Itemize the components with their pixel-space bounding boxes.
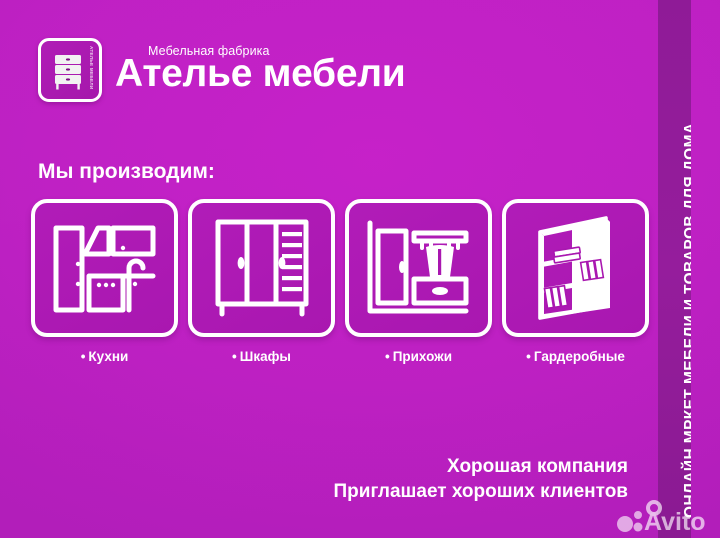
bullet-icon: • (81, 349, 86, 364)
product-card-wardrobe: •Шкафы (188, 199, 335, 364)
slogan-line-1: Хорошая компания (334, 455, 628, 480)
product-cards-row: •Кухни (31, 199, 643, 364)
wardrobe-icon (212, 216, 312, 320)
slogan: Хорошая компания Приглашает хороших клие… (334, 455, 628, 504)
product-card-kitchen-box (31, 199, 178, 337)
product-label-text: Прихожи (393, 349, 452, 364)
product-label-text: Шкафы (240, 349, 291, 364)
product-card-dressing-room-box (502, 199, 649, 337)
hallway-icon (366, 217, 472, 319)
company-logo: АТЕЛЬЕ МЕБЕЛИ (38, 38, 102, 102)
product-card-dressing-room: •Гардеробные (502, 199, 649, 364)
dresser-icon (53, 53, 83, 91)
product-card-wardrobe-label: •Шкафы (232, 349, 291, 364)
bullet-icon: • (232, 349, 237, 364)
brand-title: Ателье мебели (115, 52, 405, 96)
product-card-wardrobe-box (188, 199, 335, 337)
product-card-kitchen: •Кухни (31, 199, 178, 364)
section-heading: Мы производим: (38, 160, 215, 184)
advertisement-banner: ОНЛАЙН МРКЕТ МЕБЕЛИ И ТОВАРОВ ДЛЯ ДОМА А… (0, 0, 720, 538)
side-banner-text: ОНЛАЙН МРКЕТ МЕБЕЛИ И ТОВАРОВ ДЛЯ ДОМА (682, 123, 691, 519)
product-card-kitchen-label: •Кухни (81, 349, 129, 364)
product-card-hallway: •Прихожи (345, 199, 492, 364)
product-card-hallway-box (345, 199, 492, 337)
product-card-hallway-label: •Прихожи (385, 349, 452, 364)
logo-vertical-text: АТЕЛЬЕ МЕБЕЛИ (87, 45, 96, 99)
slogan-line-2: Приглашает хороших клиентов (334, 480, 628, 505)
avito-watermark: Avito (616, 500, 720, 534)
side-banner-strip: ОНЛАЙН МРКЕТ МЕБЕЛИ И ТОВАРОВ ДЛЯ ДОМА (658, 0, 691, 538)
shelving-icon (524, 214, 628, 322)
product-label-text: Кухни (88, 349, 128, 364)
bullet-icon: • (385, 349, 390, 364)
product-label-text: Гардеробные (534, 349, 625, 364)
kitchen-icon (51, 216, 159, 320)
product-card-dressing-room-label: •Гардеробные (526, 349, 625, 364)
svg-text:Avito: Avito (644, 508, 706, 534)
bullet-icon: • (526, 349, 531, 364)
logo-vertical-text-value: АТЕЛЬЕ МЕБЕЛИ (89, 46, 94, 90)
